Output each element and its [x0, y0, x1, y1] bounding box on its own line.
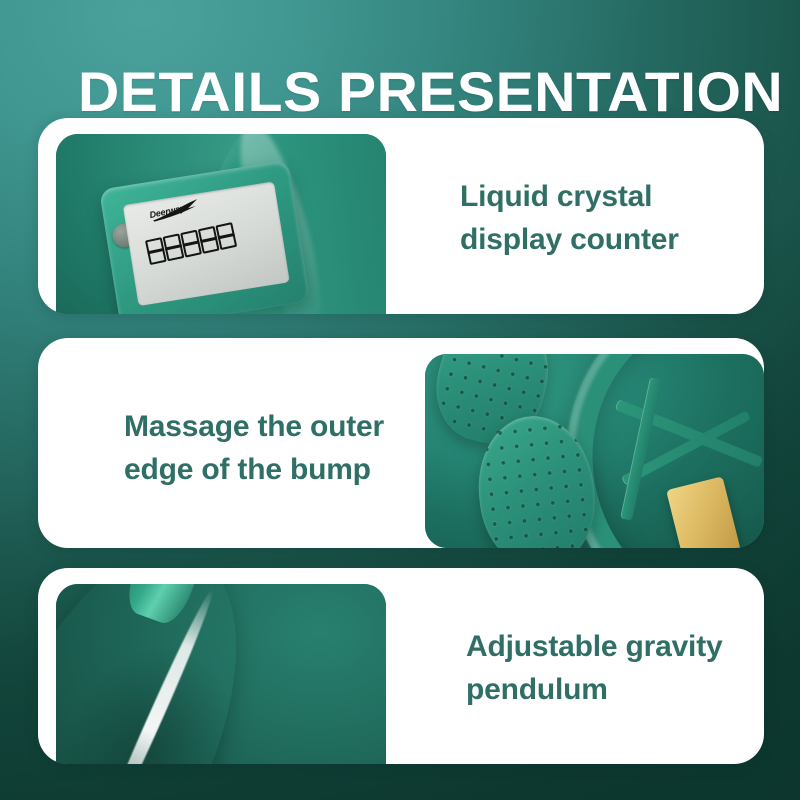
lcd-screen: Deerway [123, 180, 290, 305]
lcd-digits [145, 222, 237, 265]
feature-card-massage-bumps[interactable]: Massage the outer edge of the bump [38, 338, 764, 548]
page-title: DETAILS PRESENTATION [78, 56, 751, 128]
massage-bump-texture [472, 410, 602, 548]
gravity-pendulum-photo [56, 584, 386, 764]
card-caption: Adjustable gravity pendulum [466, 626, 764, 711]
counter-closeup-photo: Deerway [56, 134, 386, 314]
card-caption: Liquid crystal display counter [460, 176, 760, 261]
details-presentation-page: DETAILS PRESENTATION Deerway [0, 0, 800, 800]
card-caption: Massage the outer edge of the bump [124, 406, 444, 491]
feature-card-gravity-pendulum[interactable]: Adjustable gravity pendulum [38, 568, 764, 764]
feature-card-counter[interactable]: Deerway Liquid crystal display counter [38, 118, 764, 314]
massage-paddle [472, 410, 602, 548]
massage-bumps-photo [425, 354, 764, 548]
